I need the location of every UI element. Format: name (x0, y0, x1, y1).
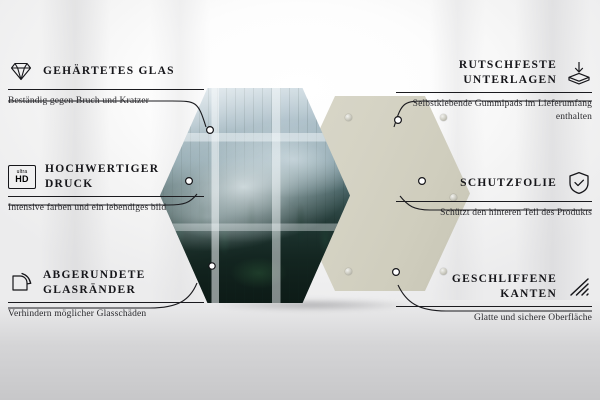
rounded-corner-icon (8, 270, 34, 296)
feature-rounded-edges: ABGERUNDETE GLASRÄNDER Verhindern möglic… (8, 268, 204, 321)
feature-description: Verhindern möglicher Glasschäden (8, 308, 204, 321)
divider (8, 302, 204, 303)
hatch-lines-icon (566, 274, 592, 300)
backdrop-light-streak (515, 0, 590, 300)
backdrop-light-streak (40, 0, 110, 300)
divider (8, 89, 204, 90)
divider (396, 92, 592, 93)
feature-polished-edges: GESCHLIFFENE KANTEN Glatte und sichere O… (396, 272, 592, 325)
press-pad-icon (566, 60, 592, 86)
rubber-pad (345, 114, 352, 121)
feature-high-quality-print: ultra HD HOCHWERTIGER DRUCK Intensive fa… (8, 162, 204, 215)
feature-title: HOCHWERTIGER DRUCK (45, 162, 204, 191)
feature-non-slip-pads: RUTSCHFESTE UNTERLAGEN Selbstklebende Gu… (396, 58, 592, 123)
feature-description: Intensive farben und ein lebendiges bild (8, 202, 204, 215)
feature-title: GEHÄRTETES GLAS (43, 64, 175, 79)
feature-title: ABGERUNDETE GLASRÄNDER (43, 268, 204, 297)
shield-check-icon (566, 170, 592, 196)
product-feature-infographic: GEHÄRTETES GLAS Beständig gegen Bruch un… (0, 0, 600, 400)
feature-tempered-glass: GEHÄRTETES GLAS Beständig gegen Bruch un… (8, 58, 204, 108)
feature-description: Schützt den hinteren Teil des Produkts (396, 207, 592, 220)
feature-protective-film: SCHUTZFOLIE Schützt den hinteren Teil de… (396, 170, 592, 220)
feature-description: Beständig gegen Bruch und Kratzer (8, 95, 204, 108)
diamond-icon (8, 58, 34, 84)
ultra-hd-badge-icon: ultra HD (8, 165, 36, 189)
feature-title: RUTSCHFESTE UNTERLAGEN (396, 58, 557, 87)
divider (396, 201, 592, 202)
divider (8, 196, 204, 197)
badge-hd-label: HD (15, 175, 28, 184)
rubber-pad (345, 268, 352, 275)
feature-description: Glatte und sichere Oberfläche (396, 312, 592, 325)
feature-title: SCHUTZFOLIE (460, 176, 557, 191)
feature-description: Selbstklebende Gummipads im Lieferumfang… (396, 98, 592, 123)
feature-title: GESCHLIFFENE KANTEN (396, 272, 557, 301)
divider (396, 306, 592, 307)
